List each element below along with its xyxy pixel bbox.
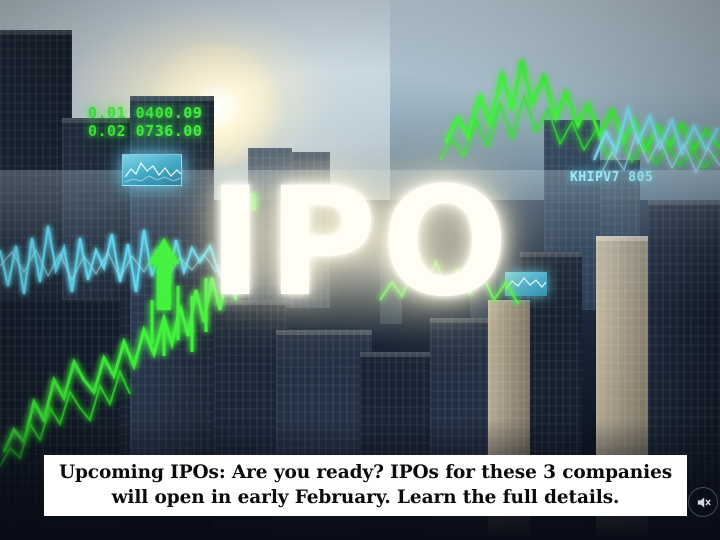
speaker-mute-icon — [695, 494, 712, 511]
caption-text: Upcoming IPOs: Are you ready? IPOs for t… — [54, 460, 677, 510]
mute-button[interactable] — [688, 487, 718, 517]
hero-title-wrap: IPO — [0, 168, 720, 318]
caption-box: Upcoming IPOs: Are you ready? IPOs for t… — [44, 455, 687, 516]
video-frame[interactable]: 0.01 0400.09 0.02 0736.00 KHIPV7 805 IPO… — [0, 0, 720, 540]
hero-title: IPO — [0, 168, 720, 318]
ticker-green-line-1: 0.01 0400.09 — [88, 104, 202, 122]
ticker-green-line-2: 0.02 0736.00 — [88, 122, 202, 140]
